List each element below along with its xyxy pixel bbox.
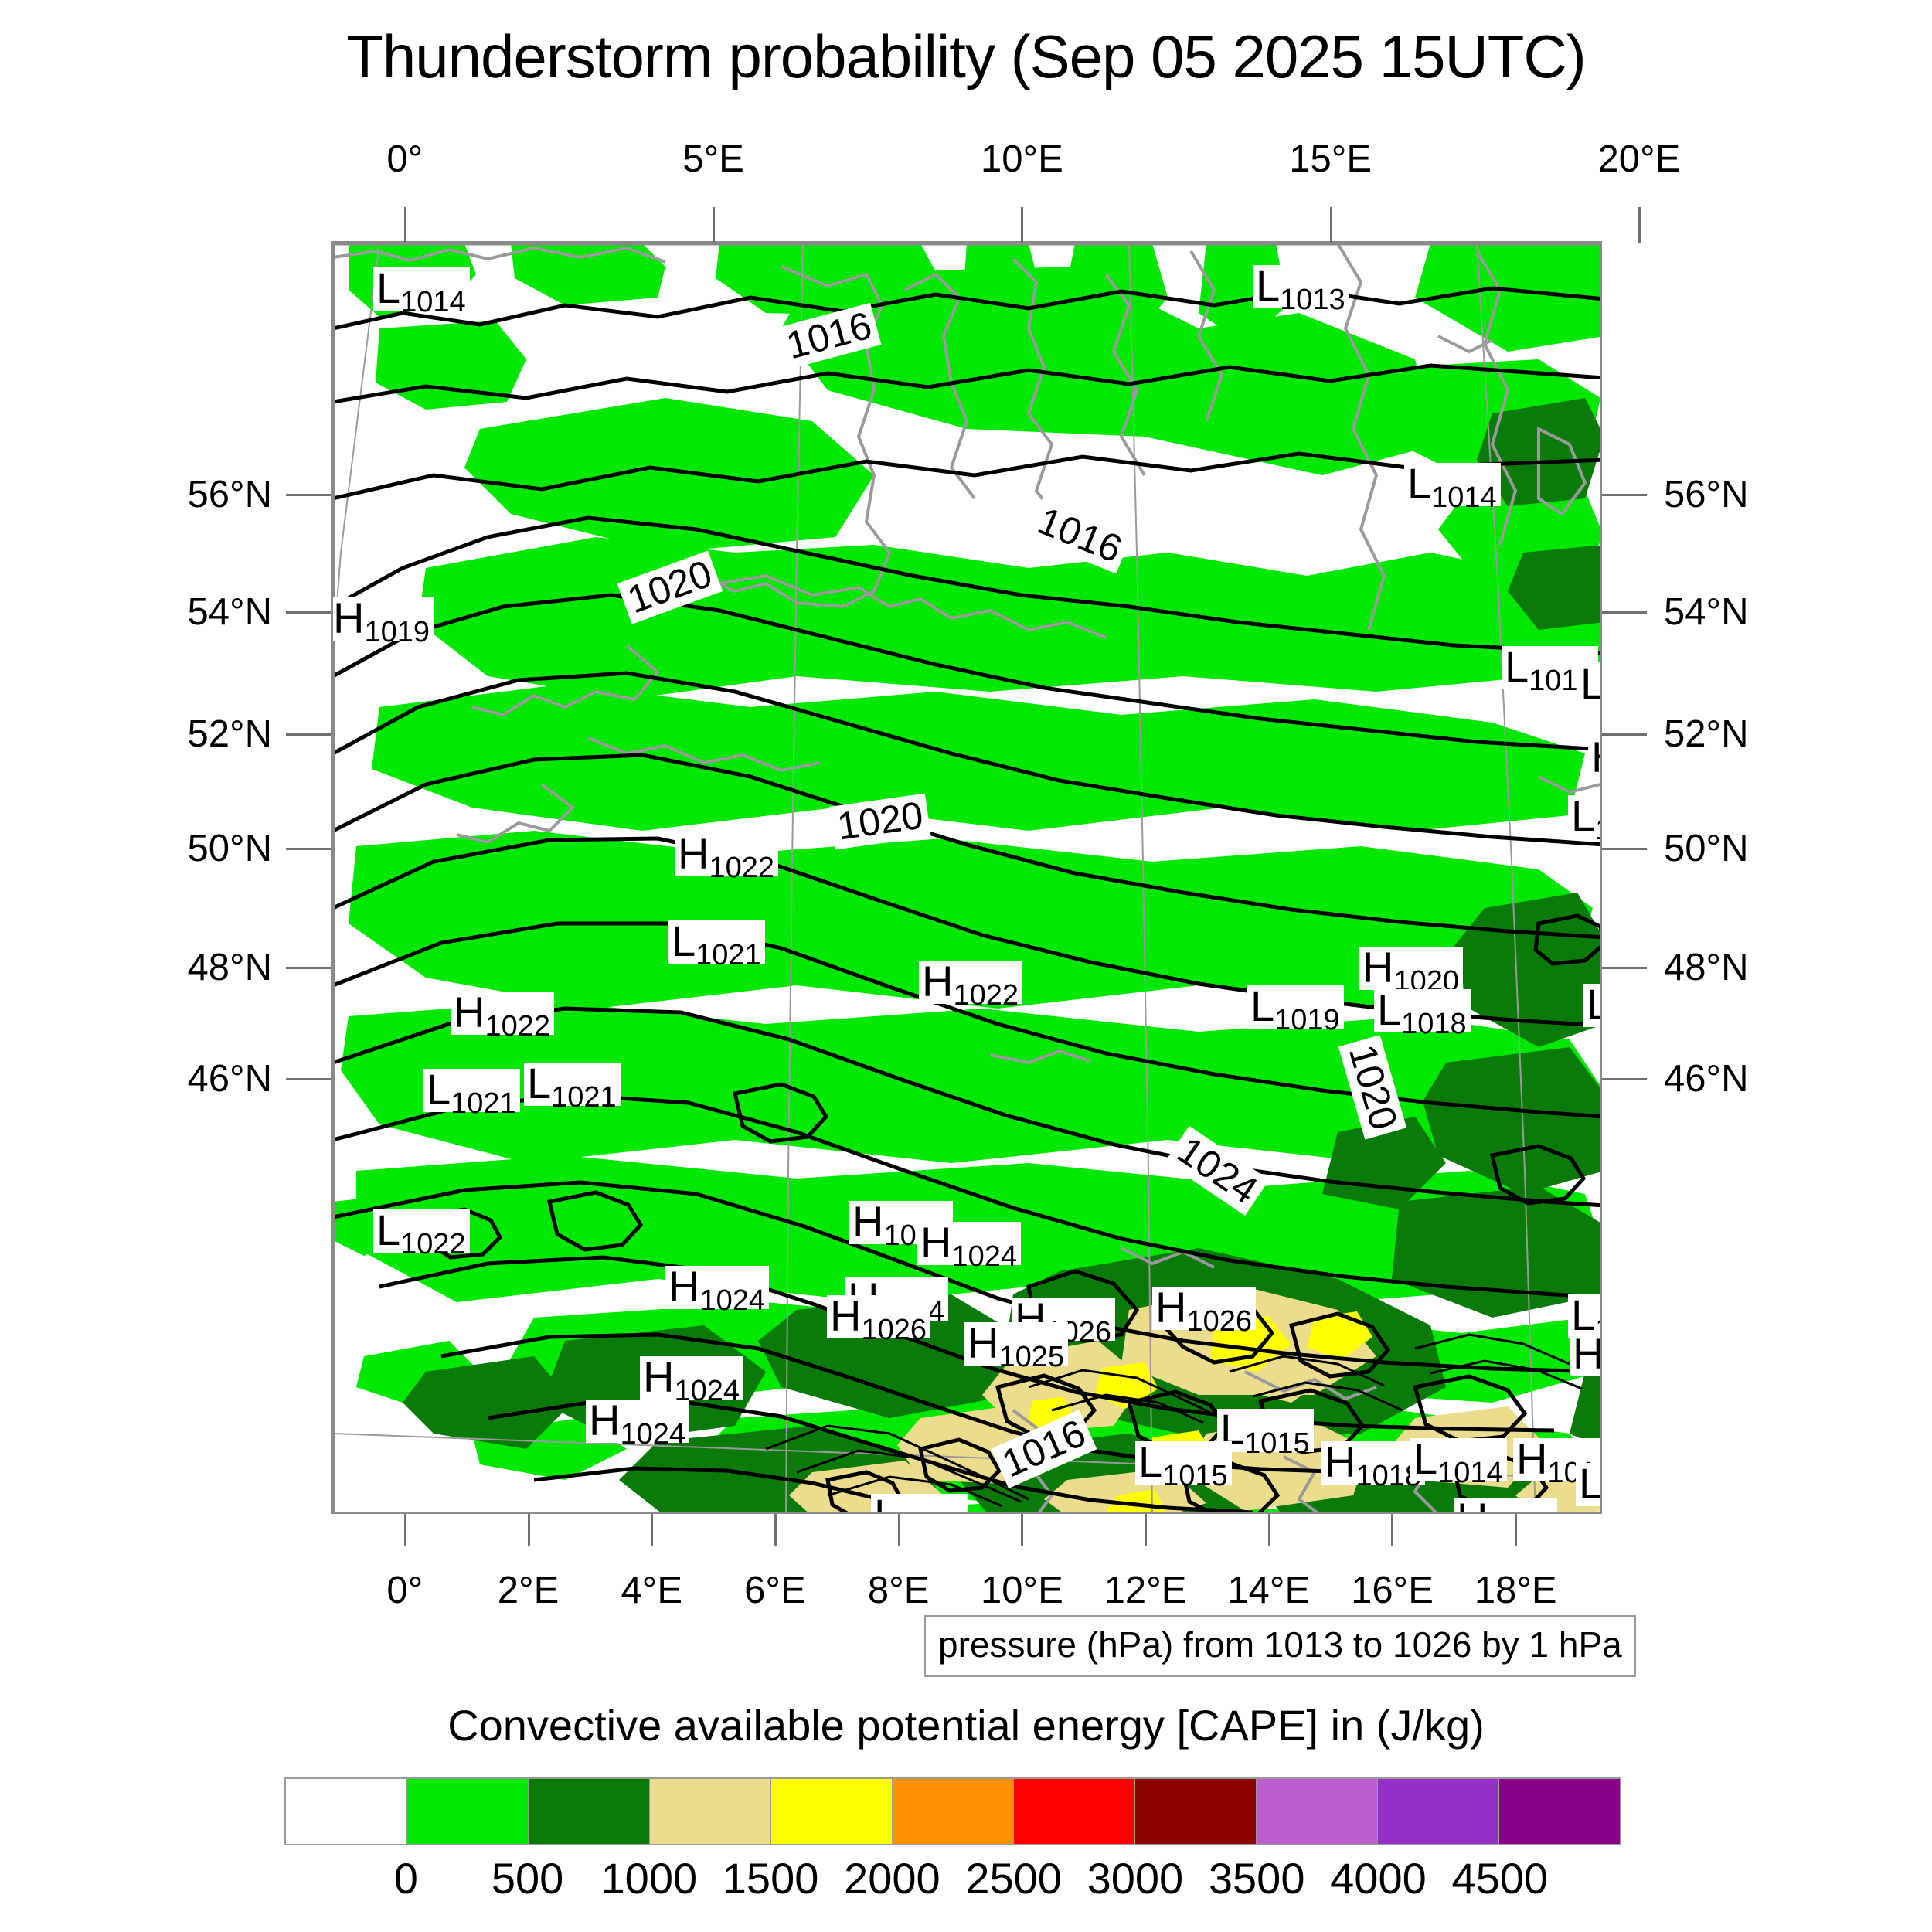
pressure-marker-high-24: H1026 [1152,1287,1256,1330]
pressure-marker-type: H [830,1291,861,1340]
pressure-marker-type: L [1407,459,1431,508]
axis-top-tick-1 [713,207,715,243]
axis-top-tick-3 [1330,207,1332,243]
colorbar-tick-8: 4000 [1330,1853,1427,1903]
axis-left-tick-4 [286,967,331,969]
pressure-marker-type: H [1325,1437,1355,1486]
pressure-marker-value: 1026 [1186,1305,1252,1338]
pressure-marker-type: H [678,829,709,878]
pressure-marker-type: H [920,1218,951,1267]
axis-bottom-label-5: 10°E [981,1569,1063,1612]
pressure-marker-type: L [376,1206,400,1254]
pressure-marker-low-14: L1 [1583,984,1600,1027]
pressure-marker-value: 1022 [400,1228,466,1260]
pressure-marker-value: 1021 [451,1087,516,1120]
pressure-marker-value: 1014 [1437,1457,1503,1489]
axis-bottom-tick-4 [898,1514,900,1546]
colorbar-tick-6: 3000 [1087,1853,1184,1903]
pressure-marker-type: L [427,1065,451,1114]
axis-left-tick-0 [286,494,331,496]
page-title: Thunderstorm probability (Sep 05 2025 15… [0,22,1932,92]
colorbar-tick-9: 4500 [1451,1853,1548,1903]
pressure-marker-type: L [1413,1434,1437,1483]
pressure-marker-value: 1022 [485,1010,550,1043]
axis-right-tick-0 [1602,494,1647,496]
colorbar-segment-2[interactable] [528,1779,649,1844]
pressure-marker-high-8: H1022 [675,833,778,876]
colorbar-tick-4: 2000 [844,1853,940,1903]
pressure-marker-high-23: H1026 [827,1295,930,1338]
axis-bottom-tick-5 [1021,1514,1023,1546]
pressure-marker-type: H [643,1352,674,1401]
pressure-marker-value: 1021 [551,1081,617,1114]
pressure-marker-high-6: H [1588,736,1600,780]
pressure-marker-low-17: L1021 [524,1063,621,1106]
pressure-marker-low-1: L1013 [1253,265,1349,308]
pressure-marker-type: H [589,1396,620,1444]
pressure-marker-high-33: H1018 [1321,1441,1425,1485]
axis-bottom-tick-3 [774,1514,777,1546]
pressure-marker-type: L [672,917,696,965]
pressure-marker-value: 1014 [400,286,466,318]
colorbar-segment-8[interactable] [1256,1779,1377,1844]
pressure-marker-type: L [1377,985,1401,1034]
axis-bottom-label-4: 8°E [868,1569,930,1612]
axis-right-tick-1 [1602,611,1647,614]
axis-top-label-2: 10°E [981,138,1063,181]
axis-bottom-tick-7 [1268,1514,1270,1546]
axis-right-tick-2 [1602,733,1647,736]
axis-top-tick-0 [404,207,406,243]
axis-bottom-tick-6 [1145,1514,1147,1546]
pressure-marker-type: H [1362,943,1393,992]
pressure-marker-type: H [1457,1494,1488,1512]
pressure-marker-value: 1019 [1274,1004,1340,1036]
pressure-marker-high-21: H1024 [665,1266,769,1309]
colorbar-segment-6[interactable] [1013,1779,1134,1844]
pressure-marker-type: L [1571,791,1595,840]
axis-bottom-label-0: 0° [386,1569,423,1612]
cape-contour-map [333,243,1600,1512]
map-canvas: L1014L1013L1014H1019L1014L10HL10H1022L10… [333,243,1600,1512]
colorbar-segment-10[interactable] [1498,1779,1620,1844]
colorbar-segment-5[interactable] [892,1779,1013,1844]
pressure-marker-value: 1022 [953,979,1019,1012]
pressure-marker-type: H [1155,1283,1186,1332]
axis-left-tick-3 [286,848,331,850]
pressure-marker-type: L [1256,261,1280,310]
pressure-marker-high-28: H10 [1570,1333,1600,1376]
pressure-marker-high-20: H1024 [917,1222,1021,1265]
pressure-marker-type: L [874,1490,898,1512]
pressure-marker-high-15: H1022 [451,992,554,1035]
axis-bottom-label-3: 6°E [744,1569,806,1612]
pressure-marker-low-18: L1022 [373,1209,470,1253]
pressure-marker-type: H [852,1197,883,1246]
axis-bottom-label-1: 2°E [498,1569,560,1612]
colorbar-tick-0: 0 [394,1853,418,1903]
pressure-marker-type: L [1587,980,1600,1029]
axis-bottom-label-7: 14°E [1227,1569,1310,1612]
pressure-marker-type: L [1580,659,1600,708]
pressure-marker-low-32: L1015 [1135,1441,1232,1485]
axis-bottom-tick-8 [1391,1514,1393,1546]
axis-left-label-3: 50°N [188,827,272,870]
pressure-marker-low-12: L1019 [1247,985,1344,1029]
axis-right-tick-5 [1602,1078,1647,1080]
axis-right-tick-4 [1602,967,1647,969]
pressure-marker-value: 1015 [1162,1460,1228,1492]
axis-top-tick-4 [1638,207,1641,243]
axis-top-label-0: 0° [386,138,423,181]
axis-right-label-2: 52°N [1664,713,1748,756]
axis-left-tick-2 [286,733,331,736]
pressure-marker-value: 1024 [699,1284,765,1317]
pressure-marker-type: L [1505,642,1529,691]
pressure-marker-value: 1014 [1431,481,1497,514]
pressure-marker-value: 1022 [709,852,774,884]
axis-bottom-tick-1 [528,1514,530,1546]
pressure-marker-value: 1019 [364,616,430,648]
pressure-marker-low-34: L1014 [1410,1438,1507,1481]
pressure-marker-high-10: H1022 [919,961,1022,1004]
pressure-marker-low-36: L1013 [1576,1463,1600,1506]
pressure-marker-value: 1018 [1401,1008,1467,1040]
pressure-marker-type: H [333,594,364,642]
colorbar-segment-7[interactable] [1134,1779,1256,1844]
axis-left-label-5: 46°N [188,1057,272,1100]
axis-left-label-1: 54°N [188,590,272,634]
axis-top-label-3: 15°E [1289,138,1372,181]
pressure-marker-type: L [1138,1437,1162,1486]
pressure-marker-low-16: L1021 [423,1069,520,1112]
cape-colorbar[interactable] [284,1777,1621,1845]
pressure-marker-type: H [668,1262,699,1311]
axis-right-label-0: 56°N [1664,473,1748,516]
pressure-marker-low-37: L1016 [871,1494,968,1512]
colorbar-segment-1[interactable] [406,1779,528,1844]
axis-right-label-5: 46°N [1664,1057,1748,1100]
map-panel[interactable]: L1014L1013L1014H1019L1014L10HL10H1022L10… [331,241,1602,1514]
pressure-marker-high-38: H1016 [1454,1498,1557,1512]
pressure-marker-high-11: H1020 [1359,947,1463,990]
pressure-marker-high-3: H1019 [333,597,434,641]
pressure-marker-low-0: L1014 [373,267,470,311]
pressure-marker-type: H [454,988,485,1036]
axis-right-label-1: 54°N [1664,590,1748,634]
colorbar-segment-3[interactable] [649,1779,770,1844]
axis-top-label-1: 5°E [682,138,744,181]
pressure-marker-type: L [376,264,400,312]
colorbar-segment-0[interactable] [286,1779,406,1844]
axis-left-label-0: 56°N [188,473,272,516]
axis-bottom-tick-2 [651,1514,653,1546]
axis-bottom-label-2: 4°E [621,1569,682,1612]
pressure-marker-low-7: L10 [1568,795,1600,838]
pressure-marker-value: 1026 [861,1314,927,1346]
pressure-marker-value: 1021 [696,939,761,971]
axis-bottom-label-9: 18°E [1475,1569,1557,1612]
pressure-marker-low-5: L10 [1577,663,1600,706]
colorbar-tick-7: 3500 [1209,1853,1305,1903]
pressure-marker-value: 10 [1595,814,1600,846]
pressure-marker-type: H [1573,1329,1600,1378]
axis-left-tick-1 [286,611,331,614]
axis-right-label-4: 48°N [1664,946,1748,989]
pressure-marker-high-30: H1024 [586,1400,689,1443]
pressure-marker-low-9: L1021 [668,920,765,964]
pressure-marker-low-2: L1014 [1404,463,1501,506]
pressure-marker-low-31: L1015 [1217,1409,1314,1452]
axis-bottom-label-6: 12°E [1104,1569,1187,1612]
axis-bottom-label-8: 16°E [1351,1569,1434,1612]
axis-bottom-tick-9 [1515,1514,1517,1546]
axis-left-label-4: 48°N [188,946,272,989]
colorbar-segment-9[interactable] [1377,1779,1498,1844]
pressure-marker-type: H [1516,1434,1547,1483]
pressure-marker-value: 1013 [1280,284,1345,316]
colorbar-tick-3: 1500 [723,1853,819,1903]
pressure-marker-type: H [1591,733,1600,781]
pressure-marker-type: H [922,957,953,1005]
axis-right-tick-3 [1602,848,1647,850]
axis-left-tick-5 [286,1078,331,1080]
pressure-marker-value: 1025 [998,1341,1064,1373]
pressure-marker-type: L [1579,1459,1600,1508]
pressure-marker-high-29: H1024 [640,1356,743,1400]
pressure-marker-value: 1024 [951,1240,1017,1273]
colorbar-tick-labels: 050010001500200025003000350040004500 [284,1853,1621,1915]
pressure-marker-type: L [1250,981,1274,1030]
axis-right-label-3: 50°N [1664,827,1748,870]
axis-bottom-tick-0 [404,1514,406,1546]
pressure-marker-value: 1015 [1244,1427,1310,1460]
axis-top-label-4: 20°E [1598,138,1681,181]
colorbar-segment-4[interactable] [770,1779,892,1844]
pressure-marker-type: H [968,1318,998,1367]
colorbar-tick-2: 1000 [601,1853,698,1903]
pressure-contour-legend: pressure (hPa) from 1013 to 1026 by 1 hP… [924,1615,1636,1677]
pressure-marker-low-13: L1018 [1374,989,1471,1032]
axis-left-label-2: 52°N [188,713,272,756]
colorbar-title: Convective available potential energy [C… [0,1700,1932,1750]
colorbar-tick-1: 500 [492,1853,563,1903]
colorbar-tick-5: 2500 [965,1853,1062,1903]
pressure-marker-type: L [527,1059,551,1107]
pressure-marker-value: 1024 [620,1418,685,1451]
axis-top-tick-2 [1021,207,1023,243]
pressure-marker-high-26: H1025 [964,1322,1068,1366]
